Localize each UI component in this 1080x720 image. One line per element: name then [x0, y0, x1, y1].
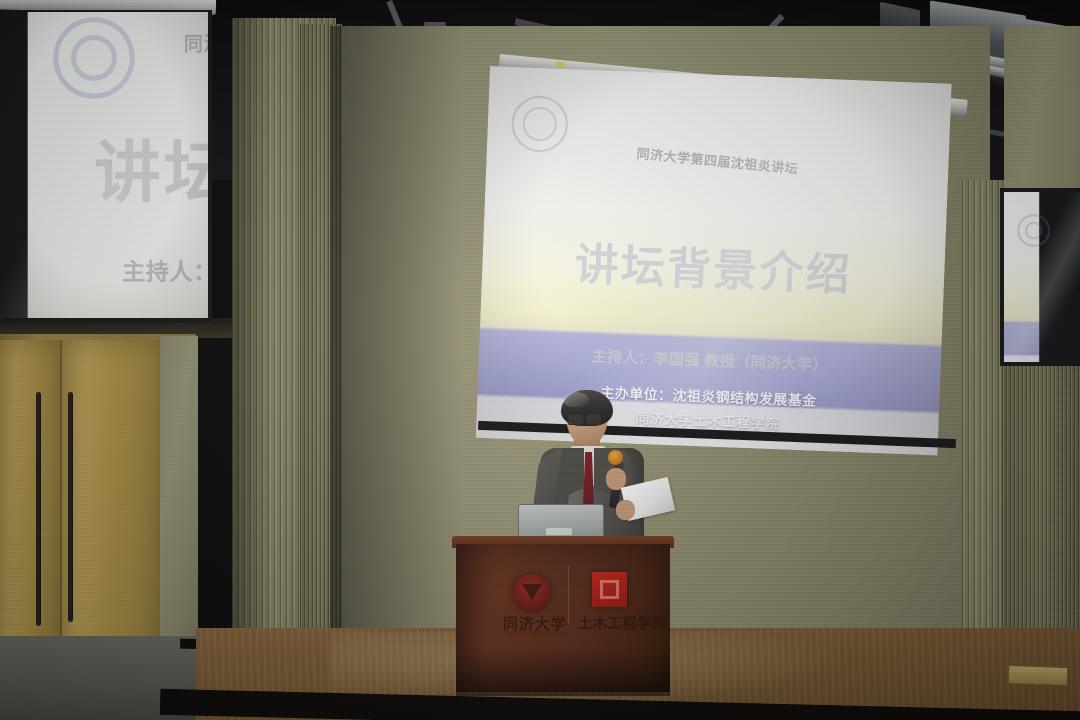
slide-surface-right	[1004, 192, 1039, 362]
speaker-eyeglasses-left-lens	[568, 414, 584, 425]
slide-title-main: 讲坛背景介绍	[481, 225, 945, 307]
door-handle-right[interactable]	[68, 392, 73, 622]
slide-surface-main: 同济大学第四届沈祖炎讲坛 讲坛背景介绍 主持人：李国强 教授（同济大学） 主办单…	[476, 66, 952, 455]
slide-host-main: 主持人：李国强 教授（同济大学）	[479, 341, 941, 380]
housing-label-sticker	[556, 62, 564, 68]
tongji-university-emblem	[513, 574, 551, 612]
college-red-seal	[592, 572, 627, 607]
slide-header-left: 同济大学第四届沈祖炎讲坛	[28, 30, 208, 58]
door-seam	[60, 340, 62, 662]
door-handle-left[interactable]	[36, 392, 41, 626]
speaker-eyeglasses-bridge	[582, 418, 586, 419]
podium-college-name: 土木工程学院	[578, 613, 667, 633]
podium-university-subname: TONGJI UNIVERSITY	[505, 631, 567, 637]
podium-center-divider	[568, 566, 569, 624]
projection-screen-left: 同济大学第四届沈祖炎讲坛 讲坛背景介绍 主持人：李国强 教授（同济大学） 主办单…	[0, 12, 208, 318]
slide-surface-left: 同济大学第四届沈祖炎讲坛 讲坛背景介绍 主持人：李国强 教授（同济大学） 主办单…	[28, 12, 208, 318]
auditorium-photograph: 同济大学第四届沈祖炎讲坛 讲坛背景介绍 主持人：李国强 教授（同济大学） 主办单…	[0, 0, 1080, 720]
speaker-eyeglasses-right-lens	[586, 414, 601, 425]
projection-screen-right	[1004, 192, 1080, 362]
brass-floor-outlet	[1008, 665, 1069, 686]
laptop-brand-badge	[546, 528, 572, 535]
slide-host-left: 主持人：李国强 教授（同济大学）	[28, 254, 208, 287]
microphone-head	[608, 450, 623, 465]
podium-shadow	[456, 648, 670, 696]
speaker-hair-highlight	[563, 392, 589, 407]
university-seal-right	[1017, 214, 1050, 247]
projection-screen-main: 同济大学第四届沈祖炎讲坛 讲坛背景介绍 主持人：李国强 教授（同济大学） 主办单…	[476, 66, 952, 455]
wall-slat-panel-far-right	[1002, 350, 1080, 660]
door-leaf-left	[0, 340, 62, 664]
door-leaf-right	[62, 340, 160, 662]
wall-shadow	[330, 26, 460, 656]
slide-org-line1-left: 主办单位：沈祖炎钢结构发展基金	[28, 313, 208, 318]
speaker-hand-paper	[616, 500, 635, 520]
door-reveal-wall	[160, 336, 198, 662]
slide-title-left: 讲坛背景介绍	[28, 122, 208, 216]
wall-shadow	[232, 18, 272, 658]
slide-header-main: 同济大学第四届沈祖炎讲坛	[487, 128, 949, 192]
